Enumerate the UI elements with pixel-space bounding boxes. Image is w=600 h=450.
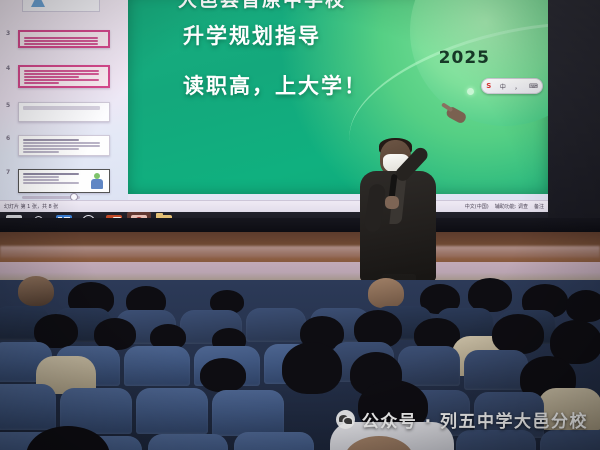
slide-accent-dot <box>467 88 474 95</box>
thumb-number-3: 3 <box>6 30 10 37</box>
screenshot-root: 3 4 5 6 <box>0 0 600 450</box>
ime-punctuation-icon[interactable]: ， <box>514 82 520 91</box>
thumb-number-5: 5 <box>6 102 10 109</box>
screen-bezel <box>0 218 600 232</box>
seat <box>398 346 460 386</box>
thumb-number-6: 6 <box>6 135 10 142</box>
slide-thumbnail-partial[interactable] <box>22 0 100 12</box>
status-accessibility[interactable]: 辅助功能: 调查 <box>495 203 528 210</box>
seat <box>234 432 314 450</box>
powerpoint-status-bar: 幻灯片 第 1 张，共 8 张 中文(中国) 辅助功能: 调查 备注 <box>0 200 548 212</box>
wechat-icon <box>336 410 355 429</box>
seat <box>136 388 208 434</box>
projected-desktop: 3 4 5 6 <box>0 0 548 218</box>
audience-head <box>566 290 600 322</box>
watermark-text: 公众号 · 列五中学大邑分校 <box>362 407 588 432</box>
slide-title-line-2: 读职高，上大学！ <box>183 70 367 100</box>
projection-wall: 3 4 5 6 <box>0 0 600 232</box>
thumb-number-4: 4 <box>6 65 10 72</box>
seat <box>464 350 528 390</box>
seat <box>540 430 600 450</box>
seat <box>246 308 306 342</box>
slide-thumbnail-7[interactable] <box>18 169 110 193</box>
slide-thumbnail-5[interactable] <box>18 102 110 122</box>
ime-mode-icon[interactable]: 中 <box>500 82 506 91</box>
thumb-number-7: 7 <box>6 169 10 176</box>
audience-head <box>468 278 512 312</box>
slide-title-line-1: 升学规划指导 <box>183 20 321 50</box>
sogou-ime-toolbar[interactable]: S 中 ， ⌨ <box>481 78 543 94</box>
audience-head <box>282 342 342 394</box>
sogou-logo-icon[interactable]: S <box>486 82 491 90</box>
watermark: 公众号 · 列五中学大邑分校 <box>336 407 588 432</box>
seat <box>0 384 56 430</box>
wall-right-panel <box>548 0 600 218</box>
slide-year-label: 2025 <box>439 48 490 68</box>
slide-thumbnail-4[interactable] <box>18 65 110 88</box>
slide-thumbnail-3[interactable] <box>18 30 110 48</box>
seat <box>212 390 284 436</box>
audience-head <box>18 276 54 306</box>
status-slide-count: 幻灯片 第 1 张，共 8 张 <box>4 203 58 210</box>
seat <box>148 434 228 450</box>
audience-head <box>200 358 246 392</box>
powerpoint-thumbnail-pane[interactable]: 3 4 5 6 <box>0 0 128 200</box>
slide-header-text: 大邑县晋原中学校 <box>178 0 478 12</box>
seat <box>456 430 536 450</box>
slide-thumbnail-6[interactable] <box>18 135 110 156</box>
seat <box>124 346 190 386</box>
status-notes-label[interactable]: 备注 <box>534 203 544 210</box>
speaker-mic-hand <box>385 196 399 209</box>
status-language[interactable]: 中文(中国) <box>465 203 489 210</box>
presentation-slide: 大邑县晋原中学校 升学规划指导 读职高，上大学！ 2025 S 中 ， ⌨ <box>128 0 548 194</box>
stage-floor-reflection <box>0 246 600 258</box>
figure-illustration-icon <box>91 173 103 189</box>
audience-head <box>492 314 544 354</box>
ime-toolbox-icon[interactable]: ⌨ <box>529 83 538 90</box>
chart-triangle-icon <box>31 0 45 7</box>
audience-head <box>368 278 404 308</box>
